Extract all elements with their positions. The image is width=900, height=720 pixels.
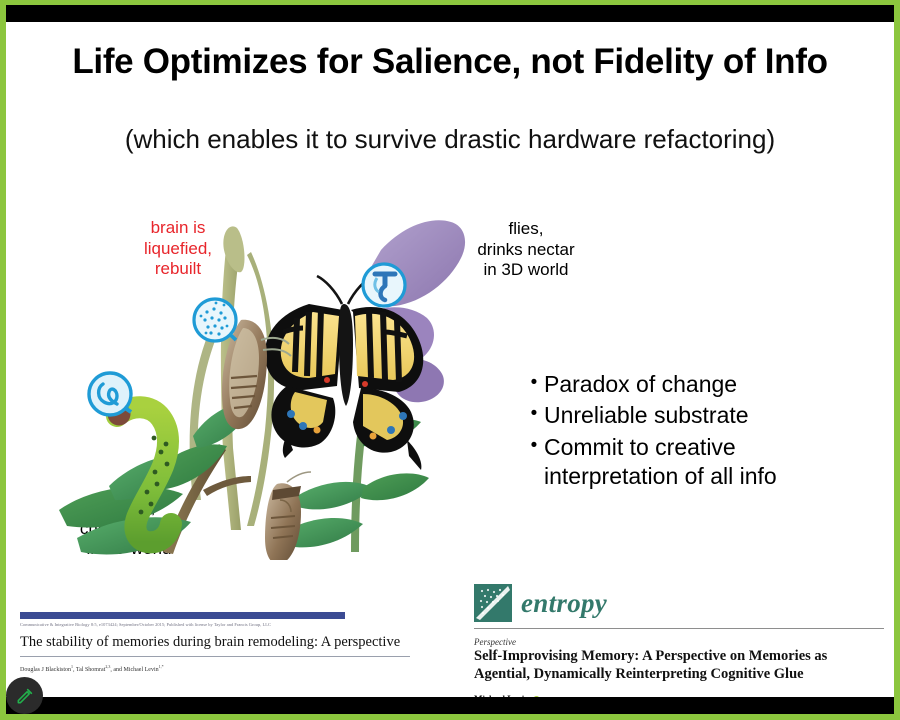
bullet-marker-icon: • <box>524 433 544 460</box>
slide-canvas: Life Optimizes for Salience, not Fidelit… <box>6 22 894 697</box>
magnifier-caterpillar-neuron <box>89 373 131 415</box>
slide-subtitle: (which enables it to survive drastic har… <box>6 124 894 155</box>
paper-right-section-label: Perspective <box>474 637 884 647</box>
bullet-list: • Paradox of change • Unreliable substra… <box>524 370 874 494</box>
presentation-window: Life Optimizes for Salience, not Fidelit… <box>0 0 900 720</box>
pencil-icon <box>15 686 35 706</box>
bullet-item: • Commit to creative interpretation of a… <box>524 433 874 492</box>
bullet-item: • Unreliable substrate <box>524 401 874 430</box>
metamorphosis-figure <box>51 200 521 560</box>
edit-slide-button[interactable] <box>6 677 43 714</box>
paper-right-title: Self-Improvising Memory: A Perspective o… <box>474 648 884 683</box>
top-black-bar <box>6 5 894 22</box>
author-name: Michael Levin <box>474 694 529 697</box>
entropy-header: entropy <box>474 582 884 624</box>
paper-left-authors: Douglas J Blackiston1, Tal Shomrat2,3, a… <box>20 664 420 673</box>
paper-left-rule <box>20 612 345 619</box>
bullet-text: Unreliable substrate <box>544 401 874 430</box>
author-name: , Tal Shomrat <box>73 667 105 673</box>
paper-left-journal-line: Communicative & Integrative Biology 8:5,… <box>20 622 420 627</box>
paper-right-author: Michael Levin <box>474 694 884 697</box>
bottom-black-bar <box>6 697 894 714</box>
entropy-wordmark: entropy <box>521 588 607 619</box>
author-name: , and Michael Levin <box>110 667 158 673</box>
paper-left-title: The stability of memories during brain r… <box>20 634 420 651</box>
bullet-text: Paradox of change <box>544 370 874 399</box>
magnifier-dispersed-neurons <box>194 299 236 341</box>
entropy-logo-icon <box>474 584 512 622</box>
paper-citation-left: Communicative & Integrative Biology 8:5,… <box>20 612 420 673</box>
bullet-item: • Paradox of change <box>524 370 874 399</box>
author-affiliation-marker: 1,* <box>159 664 164 669</box>
paper-citation-right: entropy Perspective Self-Improvising Mem… <box>474 582 884 697</box>
orcid-icon <box>533 696 540 697</box>
bullet-marker-icon: • <box>524 370 544 397</box>
slide-title: Life Optimizes for Salience, not Fidelit… <box>6 42 894 82</box>
paper-right-title-line: Agential, Dynamically Reinterpreting Cog… <box>474 666 884 684</box>
bullet-marker-icon: • <box>524 401 544 428</box>
author-name: Douglas J Blackiston <box>20 667 71 673</box>
paper-right-divider <box>474 628 884 629</box>
paper-right-title-line: Self-Improvising Memory: A Perspective o… <box>474 648 884 666</box>
magnifier-butterfly-neuron <box>363 264 405 306</box>
paper-left-divider <box>20 656 410 657</box>
bullet-text: Commit to creative interpretation of all… <box>544 433 874 492</box>
